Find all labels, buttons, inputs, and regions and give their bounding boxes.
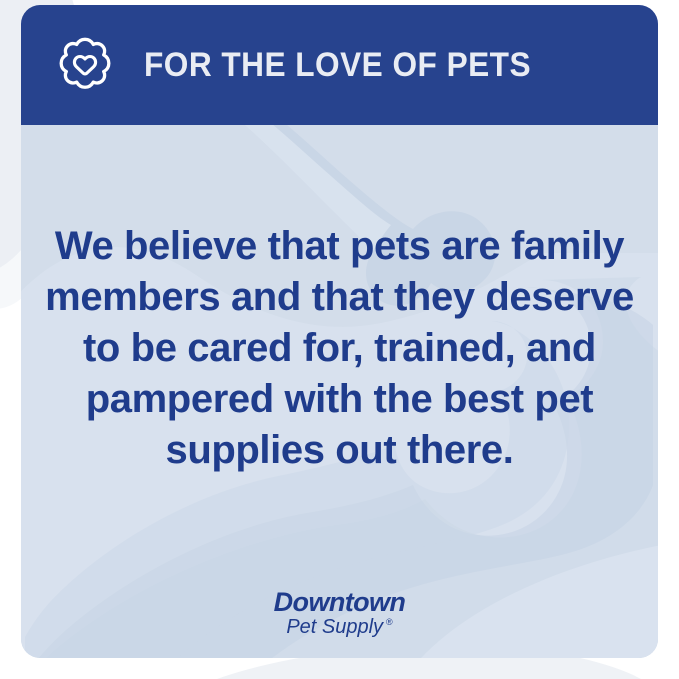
logo-secondary-line: Pet Supply®: [21, 617, 658, 638]
header-title: FOR THE LOVE OF PETS: [144, 48, 531, 82]
card-header: FOR THE LOVE OF PETS: [21, 5, 658, 125]
promo-card: FOR THE LOVE OF PETS: [21, 5, 658, 658]
quote-text: We believe that pets are family members …: [21, 221, 658, 476]
image-canvas: FOR THE LOVE OF PETS: [0, 0, 679, 679]
card-body: We believe that pets are family members …: [21, 125, 658, 658]
brand-logo: Downtown Pet Supply®: [21, 588, 658, 638]
paw-heart-icon: [54, 34, 116, 96]
registered-trademark-icon: ®: [386, 617, 393, 627]
logo-primary-text: Downtown: [21, 588, 658, 616]
logo-secondary-text: Pet Supply: [286, 616, 383, 638]
